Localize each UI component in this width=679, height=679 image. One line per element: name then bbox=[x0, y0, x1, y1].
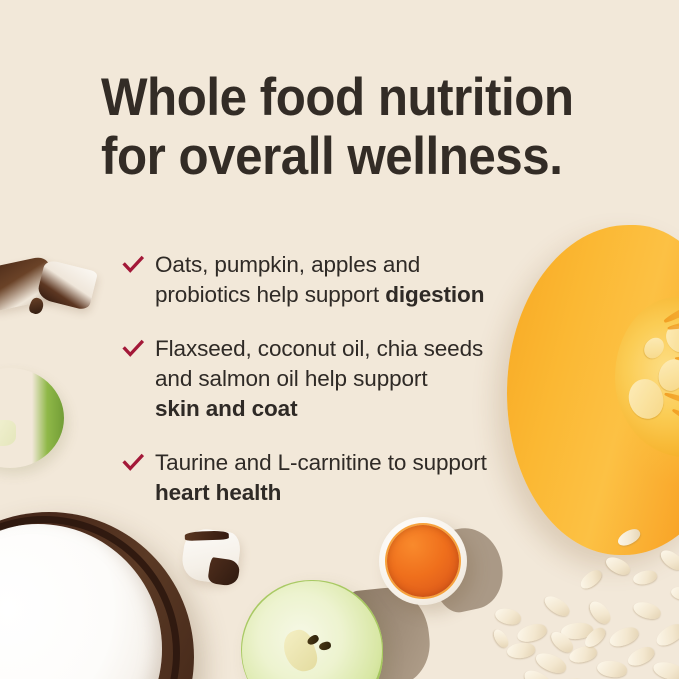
benefit-item-digestion: Oats, pumpkin, apples and probiotics hel… bbox=[122, 250, 562, 310]
apple-slice-image bbox=[0, 368, 64, 468]
pumpkin-fiber bbox=[663, 292, 679, 324]
coconut-husk bbox=[0, 516, 180, 679]
benefit-keyword: heart health bbox=[155, 478, 562, 508]
benefit-line-2-prefix: probiotics help support bbox=[155, 282, 385, 307]
benefit-item-heart-health: Taurine and L-carnitine to support heart… bbox=[122, 448, 562, 508]
benefit-item-skin-and-coat: Flaxseed, coconut oil, chia seeds and sa… bbox=[122, 334, 562, 424]
benefit-line-1: Flaxseed, coconut oil, chia seeds bbox=[155, 334, 562, 364]
apple-half-image bbox=[241, 580, 383, 679]
headline: Whole food nutrition for overall wellnes… bbox=[101, 68, 571, 186]
oil-liquid bbox=[387, 525, 459, 597]
apple-core bbox=[0, 420, 16, 446]
pumpkin-cavity bbox=[615, 297, 679, 457]
pumpkin-fiber bbox=[671, 407, 679, 440]
benefits-list: Oats, pumpkin, apples and probiotics hel… bbox=[122, 250, 562, 508]
benefit-line-1: Oats, pumpkin, apples and bbox=[155, 250, 562, 280]
headline-line-2: for overall wellness. bbox=[101, 127, 571, 186]
oil-dish-image bbox=[379, 517, 467, 605]
check-icon bbox=[122, 254, 144, 276]
benefit-line-2: and salmon oil help support bbox=[155, 364, 562, 394]
benefit-keyword: skin and coat bbox=[155, 394, 562, 424]
pumpkin-seed bbox=[640, 334, 668, 362]
coconut-chunk-image bbox=[180, 526, 243, 585]
coconut-half-image bbox=[0, 512, 194, 679]
apple-peel bbox=[32, 368, 64, 468]
check-icon bbox=[122, 338, 144, 360]
check-icon bbox=[122, 452, 144, 474]
benefit-line-1: Taurine and L-carnitine to support bbox=[155, 448, 562, 478]
headline-line-1: Whole food nutrition bbox=[101, 68, 571, 127]
benefit-line-2: probiotics help support digestion bbox=[155, 280, 562, 310]
benefit-keyword: digestion bbox=[385, 282, 484, 307]
coconut-piece-image bbox=[36, 259, 98, 311]
rolled-oats-image bbox=[487, 513, 679, 679]
product-benefits-poster: Whole food nutrition for overall wellnes… bbox=[0, 0, 679, 679]
